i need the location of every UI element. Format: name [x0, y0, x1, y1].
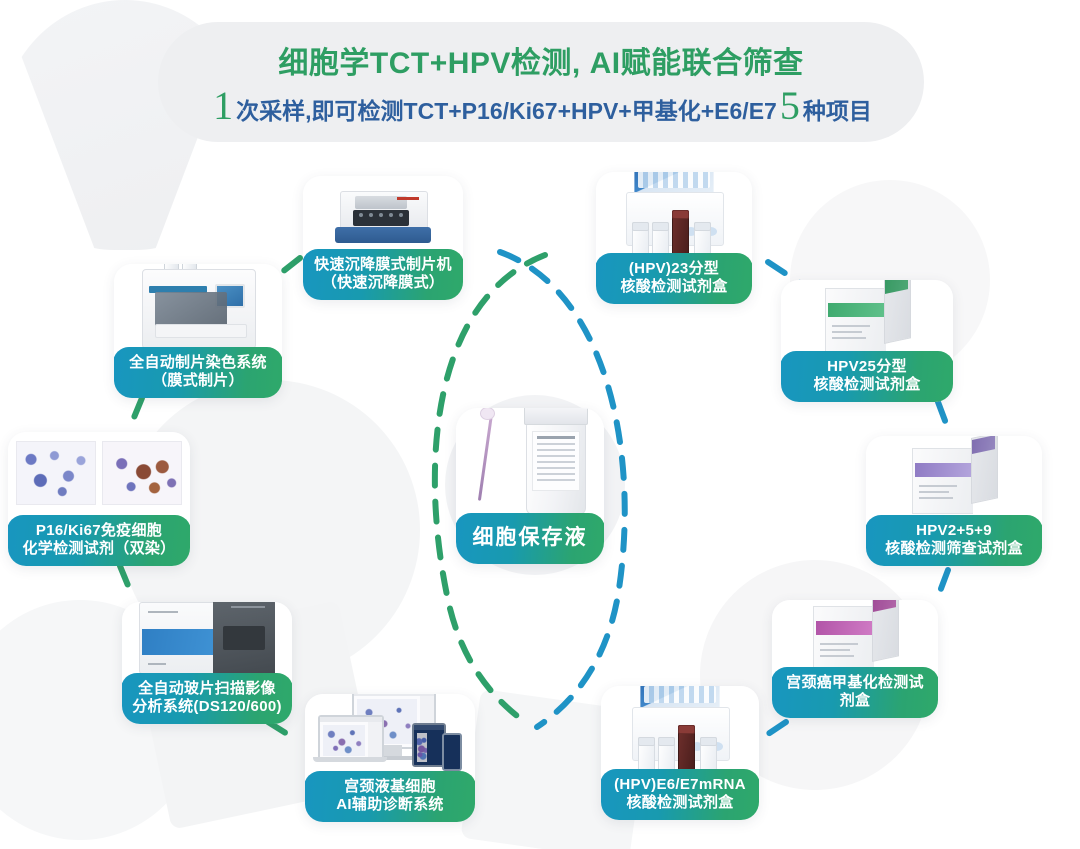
node-image-e6e7: [601, 686, 759, 769]
node-label-hpv23: (HPV)23分型 核酸检测试剂盒: [596, 253, 752, 305]
node-card-center-preservation[interactable]: 细胞保存液: [456, 408, 604, 564]
staining-system-icon: [138, 264, 258, 347]
reagent-box-green-icon: [825, 280, 909, 351]
benchtop-instrument-icon: [335, 181, 431, 243]
vial-kit-icon: [632, 686, 728, 769]
connector-p16-to-scanner: [120, 566, 134, 600]
connector-scanner-to-ai: [268, 722, 300, 742]
node-label-hpv259: HPV2+5+9 核酸检测筛查试剂盒: [866, 515, 1042, 567]
subtitle-count-one: 1: [210, 86, 236, 126]
page-subtitle: 1 次采样,即可检测TCT+P16/Ki67+HPV+甲基化+E6/E7 5 种…: [210, 86, 872, 126]
node-card-hpv23[interactable]: (HPV)23分型 核酸检测试剂盒: [596, 172, 752, 304]
node-label-methylation: 宫颈癌甲基化检测试剂盒: [772, 667, 938, 719]
node-label-hpv25: HPV25分型 核酸检测试剂盒: [781, 351, 953, 403]
node-image-staining-system: [114, 264, 282, 347]
reagent-box-purple-icon: [912, 436, 996, 514]
node-card-slide-maker[interactable]: 快速沉降膜式制片机 （快速沉降膜式）: [303, 176, 463, 300]
node-card-ai-diagnosis[interactable]: 宫颈液基细胞 AI辅助诊断系统: [305, 694, 475, 822]
node-label-center-preservation: 细胞保存液: [456, 513, 604, 564]
vial-kit-icon: [626, 172, 722, 253]
node-image-hpv23: [596, 172, 752, 253]
node-card-p16-ki67[interactable]: P16/Ki67免疫细胞 化学检测试剂（双染）: [8, 432, 190, 566]
node-image-hpv25: [781, 280, 953, 351]
subtitle-tail-text: 种项目: [803, 92, 872, 126]
connector-hpv259-to-methylation: [936, 570, 948, 602]
infographic-canvas: 细胞学TCT+HPV检测, AI赋能联合筛查 1 次采样,即可检测TCT+P16…: [0, 0, 1080, 849]
ai-workstation-icon: [318, 694, 462, 771]
node-card-e6e7[interactable]: (HPV)E6/E7mRNA 核酸检测试剂盒: [601, 686, 759, 820]
node-label-ai-diagnosis: 宫颈液基细胞 AI辅助诊断系统: [305, 771, 475, 823]
connector-staining-to-p16: [128, 398, 142, 432]
node-label-p16-ki67: P16/Ki67免疫细胞 化学检测试剂（双染）: [8, 515, 190, 567]
node-card-methylation[interactable]: 宫颈癌甲基化检测试剂盒: [772, 600, 938, 718]
header-banner: 细胞学TCT+HPV检测, AI赋能联合筛查 1 次采样,即可检测TCT+P16…: [158, 22, 924, 142]
slide-scanner-icon: [139, 602, 275, 673]
subtitle-count-five: 5: [777, 86, 803, 126]
node-image-center-preservation: [456, 408, 604, 513]
node-label-staining-system: 全自动制片染色系统 （膜式制片）: [114, 347, 282, 399]
node-label-e6e7: (HPV)E6/E7mRNA 核酸检测试剂盒: [601, 769, 759, 821]
node-image-ai-diagnosis: [305, 694, 475, 771]
connector-hpv25-to-hpv259: [938, 402, 950, 434]
node-image-p16-ki67: [8, 432, 190, 515]
node-card-staining-system[interactable]: 全自动制片染色系统 （膜式制片）: [114, 264, 282, 398]
node-image-hpv259: [866, 436, 1042, 515]
connector-methylation-to-e6e7: [756, 722, 786, 742]
node-label-slide-maker: 快速沉降膜式制片机 （快速沉降膜式）: [303, 249, 463, 301]
micrograph-blue-icon: [16, 441, 96, 505]
micrograph-brown-icon: [102, 441, 182, 505]
preservation-vial-icon: [470, 408, 590, 513]
node-image-slide-maker: [303, 176, 463, 249]
node-label-slide-scanner: 全自动玻片扫描影像 分析系统(DS120/600): [122, 673, 292, 725]
node-image-slide-scanner: [122, 602, 292, 673]
node-card-hpv259[interactable]: HPV2+5+9 核酸检测筛查试剂盒: [866, 436, 1042, 566]
reagent-box-magenta-icon: [813, 600, 897, 667]
node-card-slide-scanner[interactable]: 全自动玻片扫描影像 分析系统(DS120/600): [122, 602, 292, 724]
subtitle-middle-text: 次采样,即可检测TCT+P16/Ki67+HPV+甲基化+E6/E7: [236, 92, 777, 126]
page-title: 细胞学TCT+HPV检测, AI赋能联合筛查: [278, 38, 803, 82]
node-card-hpv25[interactable]: HPV25分型 核酸检测试剂盒: [781, 280, 953, 402]
node-image-methylation: [772, 600, 938, 667]
